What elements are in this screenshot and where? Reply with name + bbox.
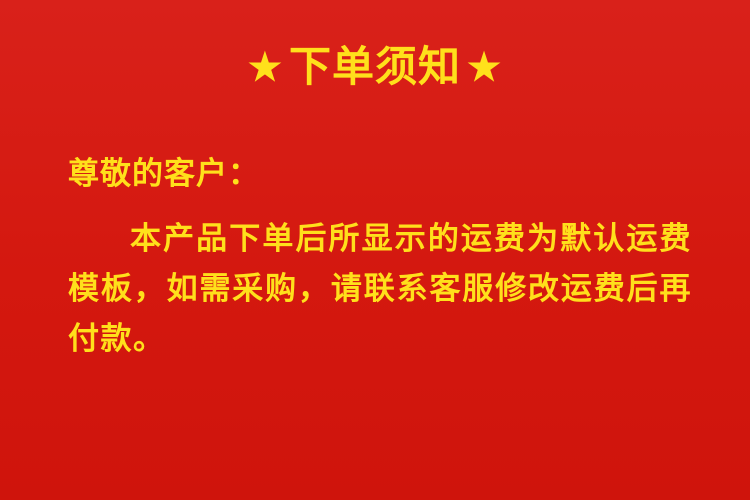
notice-card: ★ 下单须知 ★ 尊敬的客户： 本产品下单后所显示的运费为默认运费模板，如需采购… (0, 0, 750, 500)
star-icon-right: ★ (467, 49, 502, 87)
notice-body-text: 本产品下单后所显示的运费为默认运费模板，如需采购，请联系客服修改运费后再付款。 (68, 214, 692, 365)
notice-title: ★ 下单须知 ★ (0, 44, 750, 90)
salutation-text: 尊敬的客户： (68, 148, 260, 193)
title-text: 下单须知 (289, 44, 461, 90)
star-icon-left: ★ (248, 49, 283, 87)
